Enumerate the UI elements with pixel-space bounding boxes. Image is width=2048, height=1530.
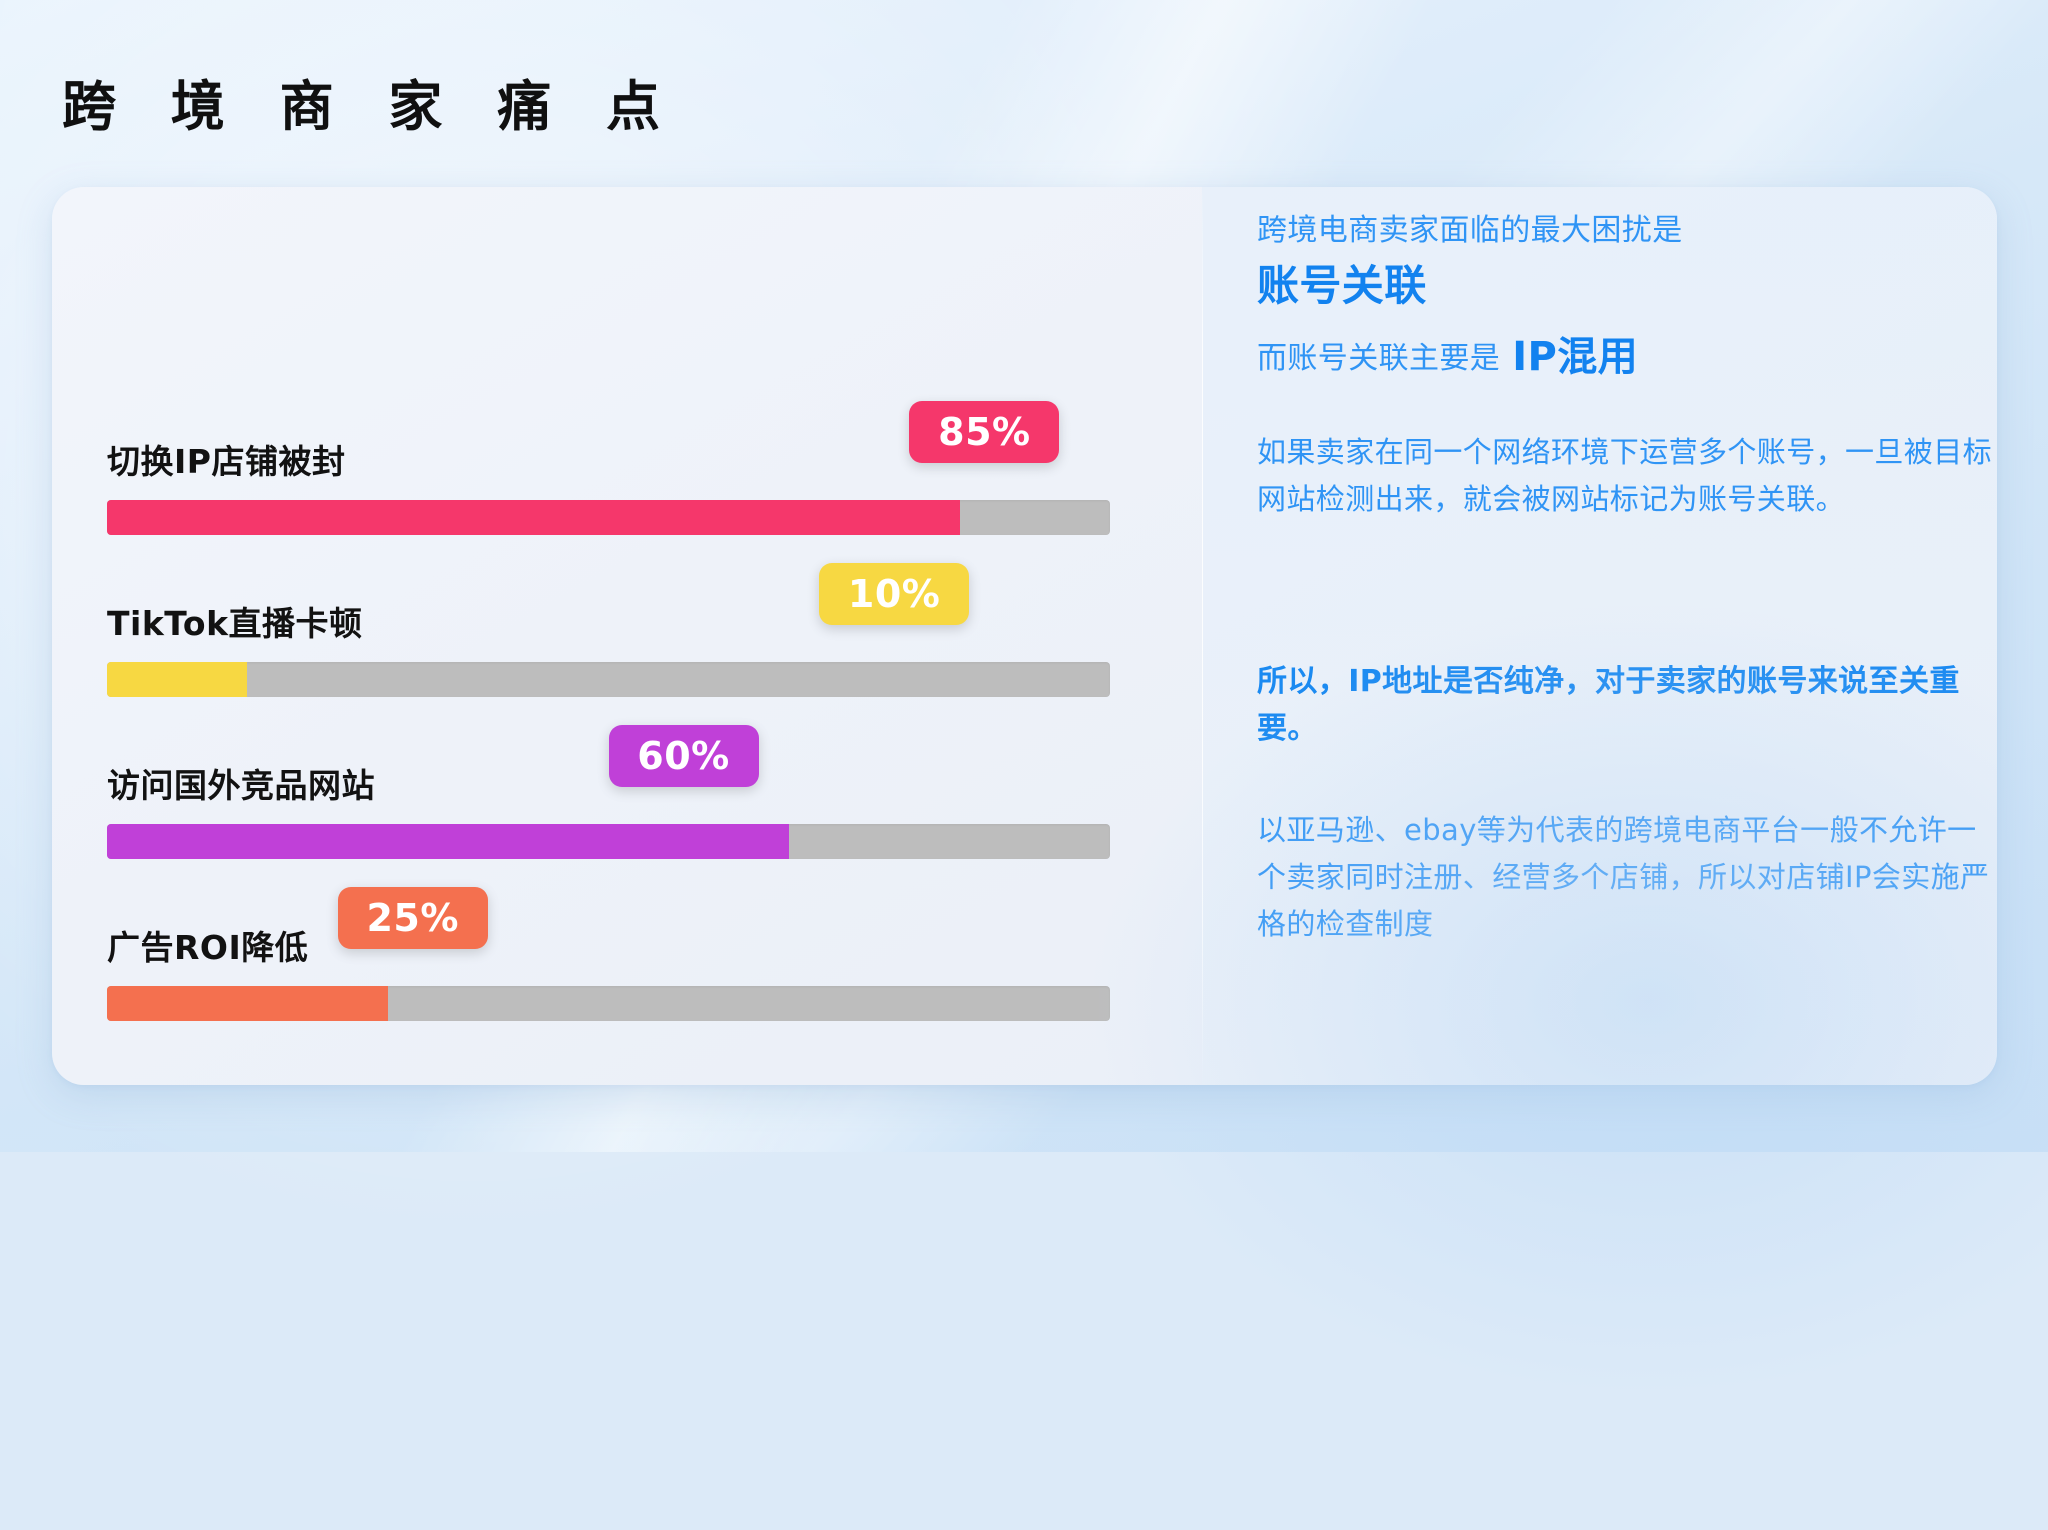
bar-fill	[107, 986, 388, 1021]
bar-row: TikTok直播卡顿 10%	[107, 517, 1110, 697]
explainer-subline-accent: IP混用	[1512, 334, 1638, 380]
slide-background: 跨 境 商 家 痛 点 切换IP店铺被封 85% TikTok直播卡顿 10%	[0, 0, 2048, 1152]
bar-label: 切换IP店铺被封	[107, 435, 345, 483]
page-title: 跨 境 商 家 痛 点	[62, 62, 678, 141]
bar-value-badge: 25%	[338, 887, 488, 949]
bar-value-badge: 60%	[609, 725, 759, 787]
explainer-paragraph-3: 以亚马逊、ebay等为代表的跨境电商平台一般不允许一个卖家同时注册、经营多个店铺…	[1257, 807, 1992, 948]
explainer-paragraph-2: 所以，IP地址是否纯净，对于卖家的账号来说至关重要。	[1257, 659, 1992, 752]
bar-label: 广告ROI降低	[107, 921, 308, 969]
bar-row: 切换IP店铺被封 85%	[107, 355, 1110, 535]
bar-value-badge: 10%	[819, 563, 969, 625]
explainer-headline: 账号关联	[1257, 259, 1992, 314]
card-divider	[1202, 187, 1203, 1085]
bar-row: 访问国外竞品网站 60%	[107, 679, 1110, 859]
explainer-lead: 跨境电商卖家面临的最大困扰是	[1257, 209, 1992, 253]
content-card: 切换IP店铺被封 85% TikTok直播卡顿 10% 访问国外竞品网站 60%	[52, 187, 1997, 1085]
bar-label: TikTok直播卡顿	[107, 597, 363, 645]
explainer-subline: 而账号关联主要是IP混用	[1257, 329, 1992, 385]
bar-value-badge: 85%	[909, 401, 1059, 463]
explainer-panel: 跨境电商卖家面临的最大困扰是 账号关联 而账号关联主要是IP混用 如果卖家在同一…	[1257, 187, 1997, 1085]
bar-row: 广告ROI降低 25%	[107, 841, 1110, 1021]
explainer-subline-prefix: 而账号关联主要是	[1257, 341, 1500, 376]
bar-label: 访问国外竞品网站	[107, 759, 375, 807]
bar-track	[107, 986, 1110, 1021]
explainer-paragraph-1: 如果卖家在同一个网络环境下运营多个账号，一旦被目标网站检测出来，就会被网站标记为…	[1257, 429, 1992, 523]
bar-chart: 切换IP店铺被封 85% TikTok直播卡顿 10% 访问国外竞品网站 60%	[107, 187, 1177, 1085]
